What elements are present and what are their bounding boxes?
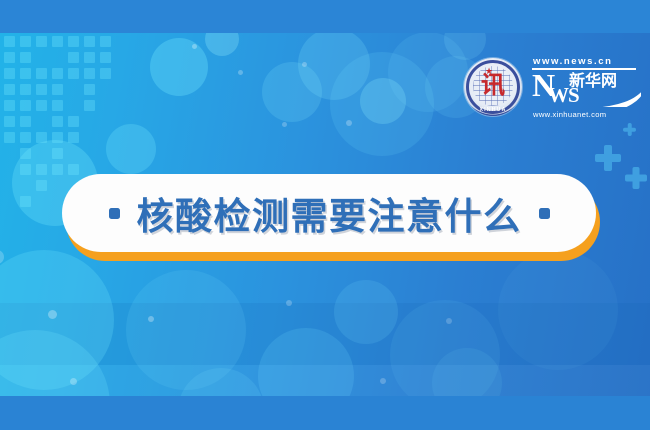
- emblem-star-icon: ★: [485, 67, 493, 76]
- bokeh-dot: [48, 310, 57, 319]
- xinhua-emblem-icon: ★ 讯 XINHUA: [464, 58, 522, 116]
- bokeh-circle: [298, 28, 370, 100]
- dot-separator-right-icon: [539, 208, 550, 219]
- background-band-hairline: [0, 365, 650, 396]
- plus-mark: .plus[style*="623px"]::before{width:4.5p…: [623, 123, 636, 136]
- bokeh-circle: [498, 250, 618, 370]
- bokeh-circle: [334, 280, 398, 344]
- bokeh-circle: [360, 78, 406, 124]
- bokeh-dot: [286, 300, 292, 306]
- bokeh-circle: [444, 18, 486, 60]
- background-band-bottom: [0, 396, 650, 430]
- bokeh-circle: [205, 22, 239, 56]
- bokeh-dot: [238, 70, 243, 75]
- page-title: 核酸检测需要注意什么: [137, 186, 522, 240]
- bokeh-dot: [346, 120, 352, 126]
- logo-group: ★ 讯 XINHUA www.news.cn N WS 新华网 www.xinh…: [464, 56, 640, 118]
- bokeh-circle: [0, 250, 114, 390]
- bokeh-circle: [178, 368, 264, 430]
- swoosh-icon: [585, 85, 641, 107]
- emblem-arc: XINHUA: [464, 98, 522, 115]
- bokeh-dot: [148, 316, 154, 322]
- title-pill-body: 核酸检测需要注意什么: [62, 174, 596, 252]
- bokeh-circle: [106, 124, 156, 174]
- xinhua-news-banner: .plus[style*="595px"]::before{width:8px;…: [0, 0, 650, 430]
- bokeh-dot: [70, 378, 77, 385]
- bokeh-circle: [126, 270, 246, 390]
- xinhuanet-wordmark: www.news.cn N WS 新华网 www.xinhuanet.com: [532, 56, 640, 118]
- title-pill: 核酸检测需要注意什么: [62, 174, 596, 252]
- bokeh-circle: [432, 348, 502, 418]
- emblem-glyph: 讯: [481, 73, 505, 97]
- bokeh-circle: [0, 330, 110, 430]
- bokeh-dot: [302, 62, 307, 67]
- bokeh-circle: [390, 300, 500, 410]
- background-band-middle: [0, 303, 650, 365]
- news-bottom-url: www.xinhuanet.com: [533, 110, 606, 119]
- bokeh-circle: [0, 250, 4, 264]
- news-top-url: www.news.cn: [532, 56, 640, 67]
- bokeh-circle: [150, 38, 208, 96]
- emblem-arc-text: XINHUA: [479, 107, 506, 113]
- wordmark-body: N WS 新华网: [532, 71, 640, 108]
- dot-separator-left-icon: [109, 208, 120, 219]
- bokeh-circle: [330, 52, 434, 156]
- bokeh-circle: [258, 328, 354, 424]
- background-band-top: [0, 0, 650, 33]
- bokeh-dot: [282, 122, 287, 127]
- bokeh-circle: [262, 62, 322, 122]
- bokeh-dot: [380, 378, 386, 384]
- bokeh-circle: [388, 32, 468, 112]
- plus-mark: .plus[style*="595px"]::before{width:8px;…: [595, 145, 621, 171]
- plus-mark: .plus[style*="625px"]::before{width:7px;…: [625, 167, 647, 189]
- bokeh-dot: [446, 318, 452, 324]
- bokeh-dot: [192, 44, 197, 49]
